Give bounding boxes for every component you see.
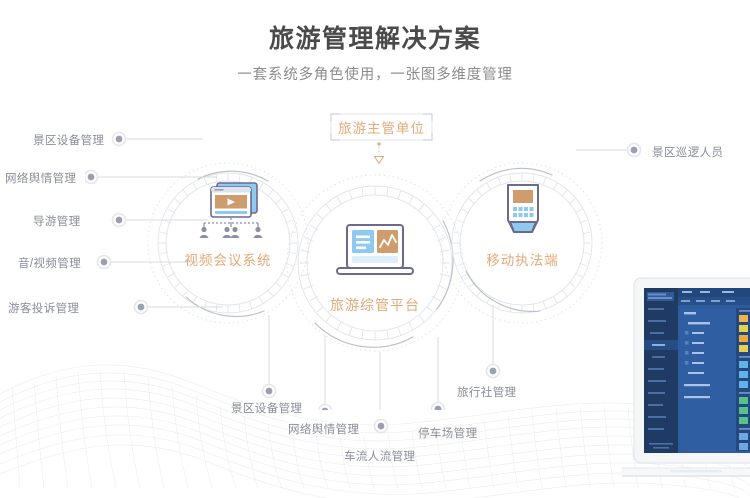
node-tourism-platform[interactable]: 旅游综管平台 bbox=[315, 222, 435, 315]
left-label-0: 景区设备管理 bbox=[33, 132, 104, 148]
bottom-connector-center-dot bbox=[373, 418, 389, 434]
bottom-label-4: 旅行社管理 bbox=[457, 384, 517, 400]
bottom-label-1: 网络舆情管理 bbox=[288, 421, 359, 437]
left-label-3: 音/视频管理 bbox=[18, 255, 81, 271]
left-label-2: 导游管理 bbox=[33, 213, 81, 229]
bottom-label-0: 景区设备管理 bbox=[231, 400, 302, 416]
left-label-1: 网络舆情管理 bbox=[5, 170, 76, 186]
infographic-canvas: 旅游管理解决方案 一套系统多角色使用，一张图多维度管理 bbox=[0, 0, 750, 498]
node-label-mobile-enforcement: 移动执法端 bbox=[470, 249, 575, 269]
page-subtitle: 一套系统多角色使用，一张图多维度管理 bbox=[0, 65, 750, 85]
authority-badge: 旅游主管单位 bbox=[330, 113, 433, 141]
laptop-dashboard-mockup bbox=[622, 260, 750, 490]
node-label-video-conference: 视频会议系统 bbox=[168, 249, 288, 269]
page-title: 旅游管理解决方案 bbox=[0, 22, 750, 56]
header: 旅游管理解决方案 一套系统多角色使用，一张图多维度管理 bbox=[0, 22, 750, 85]
laptop-dashboard-icon bbox=[331, 222, 419, 284]
right-label-0: 景区巡逻人员 bbox=[652, 144, 723, 160]
left-label-4: 游客投诉管理 bbox=[8, 300, 79, 316]
authority-badge-label: 旅游主管单位 bbox=[338, 117, 425, 137]
node-mobile-enforcement[interactable]: 移动执法端 bbox=[470, 182, 575, 269]
badge-to-platform-arrow bbox=[372, 142, 386, 166]
bottom-label-2: 车流人流管理 bbox=[344, 448, 415, 464]
video-conference-icon bbox=[191, 178, 265, 240]
handheld-terminal-icon bbox=[500, 182, 546, 240]
node-video-conference[interactable]: 视频会议系统 bbox=[168, 178, 288, 269]
node-label-tourism-platform: 旅游综管平台 bbox=[315, 295, 435, 315]
right-connectors bbox=[576, 138, 656, 162]
bottom-label-3: 停车场管理 bbox=[418, 425, 478, 441]
